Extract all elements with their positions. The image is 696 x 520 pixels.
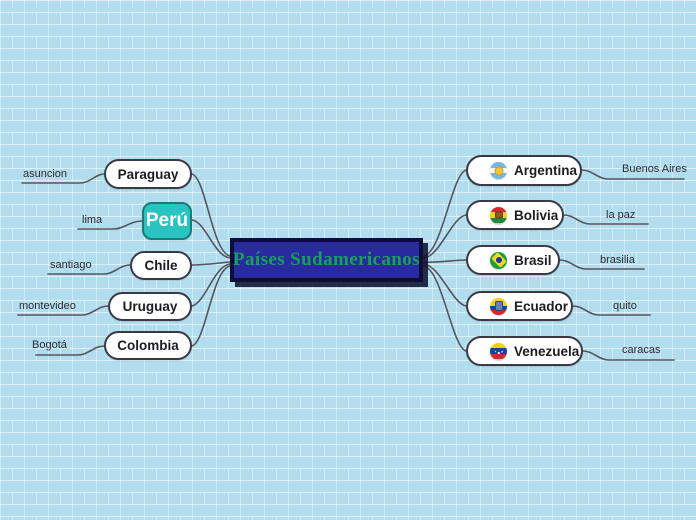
capital-asuncion[interactable]: asuncion xyxy=(23,168,67,181)
node-uruguay[interactable]: Uruguay xyxy=(108,292,192,321)
node-paraguay-label: Paraguay xyxy=(118,167,179,182)
edge-root-paraguay xyxy=(192,174,230,256)
edge-root-brasil xyxy=(424,260,466,262)
capital-bogota[interactable]: Bogotá xyxy=(32,339,67,352)
node-uruguay-label: Uruguay xyxy=(123,299,178,314)
root-node-label: Países Sudamericanos xyxy=(233,249,420,271)
node-bolivia-label: Bolivia xyxy=(514,208,558,223)
node-peru[interactable]: Perú xyxy=(142,202,192,240)
node-argentina-label: Argentina xyxy=(514,163,577,178)
node-ecuador-label: Ecuador xyxy=(514,299,568,314)
node-ecuador[interactable]: Ecuador xyxy=(466,291,573,321)
node-colombia-label: Colombia xyxy=(117,338,179,353)
capital-quito[interactable]: quito xyxy=(613,300,637,313)
node-peru-label: Perú xyxy=(146,210,188,232)
node-brasil[interactable]: Brasil xyxy=(466,245,560,275)
node-colombia[interactable]: Colombia xyxy=(104,331,192,360)
argentina-flag-icon xyxy=(490,162,507,179)
bolivia-flag-icon xyxy=(490,207,507,224)
node-venezuela[interactable]: Venezuela xyxy=(466,336,583,366)
node-paraguay[interactable]: Paraguay xyxy=(104,159,192,189)
node-chile-label: Chile xyxy=(144,258,177,273)
edge-root-colombia xyxy=(192,266,230,346)
capital-buenos-aires[interactable]: Buenos Aires xyxy=(622,163,687,176)
capital-brasilia[interactable]: brasilia xyxy=(600,254,635,267)
edge-root-argentina xyxy=(424,170,466,256)
edge-ecuador-quito xyxy=(573,306,650,315)
ecuador-flag-icon xyxy=(490,298,507,315)
mindmap-canvas: Países Sudamericanos Paraguay Perú Chile… xyxy=(0,0,696,520)
node-venezuela-label: Venezuela xyxy=(514,344,579,359)
root-node[interactable]: Países Sudamericanos xyxy=(230,238,423,282)
node-brasil-label: Brasil xyxy=(514,253,552,268)
brasil-flag-icon xyxy=(490,252,507,269)
node-bolivia[interactable]: Bolivia xyxy=(466,200,564,230)
capital-caracas[interactable]: caracas xyxy=(622,344,661,357)
edge-root-venezuela xyxy=(424,266,466,351)
capital-montevideo[interactable]: montevideo xyxy=(19,300,76,313)
capital-santiago[interactable]: santiago xyxy=(50,259,92,272)
node-argentina[interactable]: Argentina xyxy=(466,155,582,186)
venezuela-flag-icon xyxy=(490,343,507,360)
node-chile[interactable]: Chile xyxy=(130,251,192,280)
capital-la-paz[interactable]: la paz xyxy=(606,209,635,222)
edge-root-chile xyxy=(192,262,230,265)
capital-lima[interactable]: lima xyxy=(82,214,102,227)
